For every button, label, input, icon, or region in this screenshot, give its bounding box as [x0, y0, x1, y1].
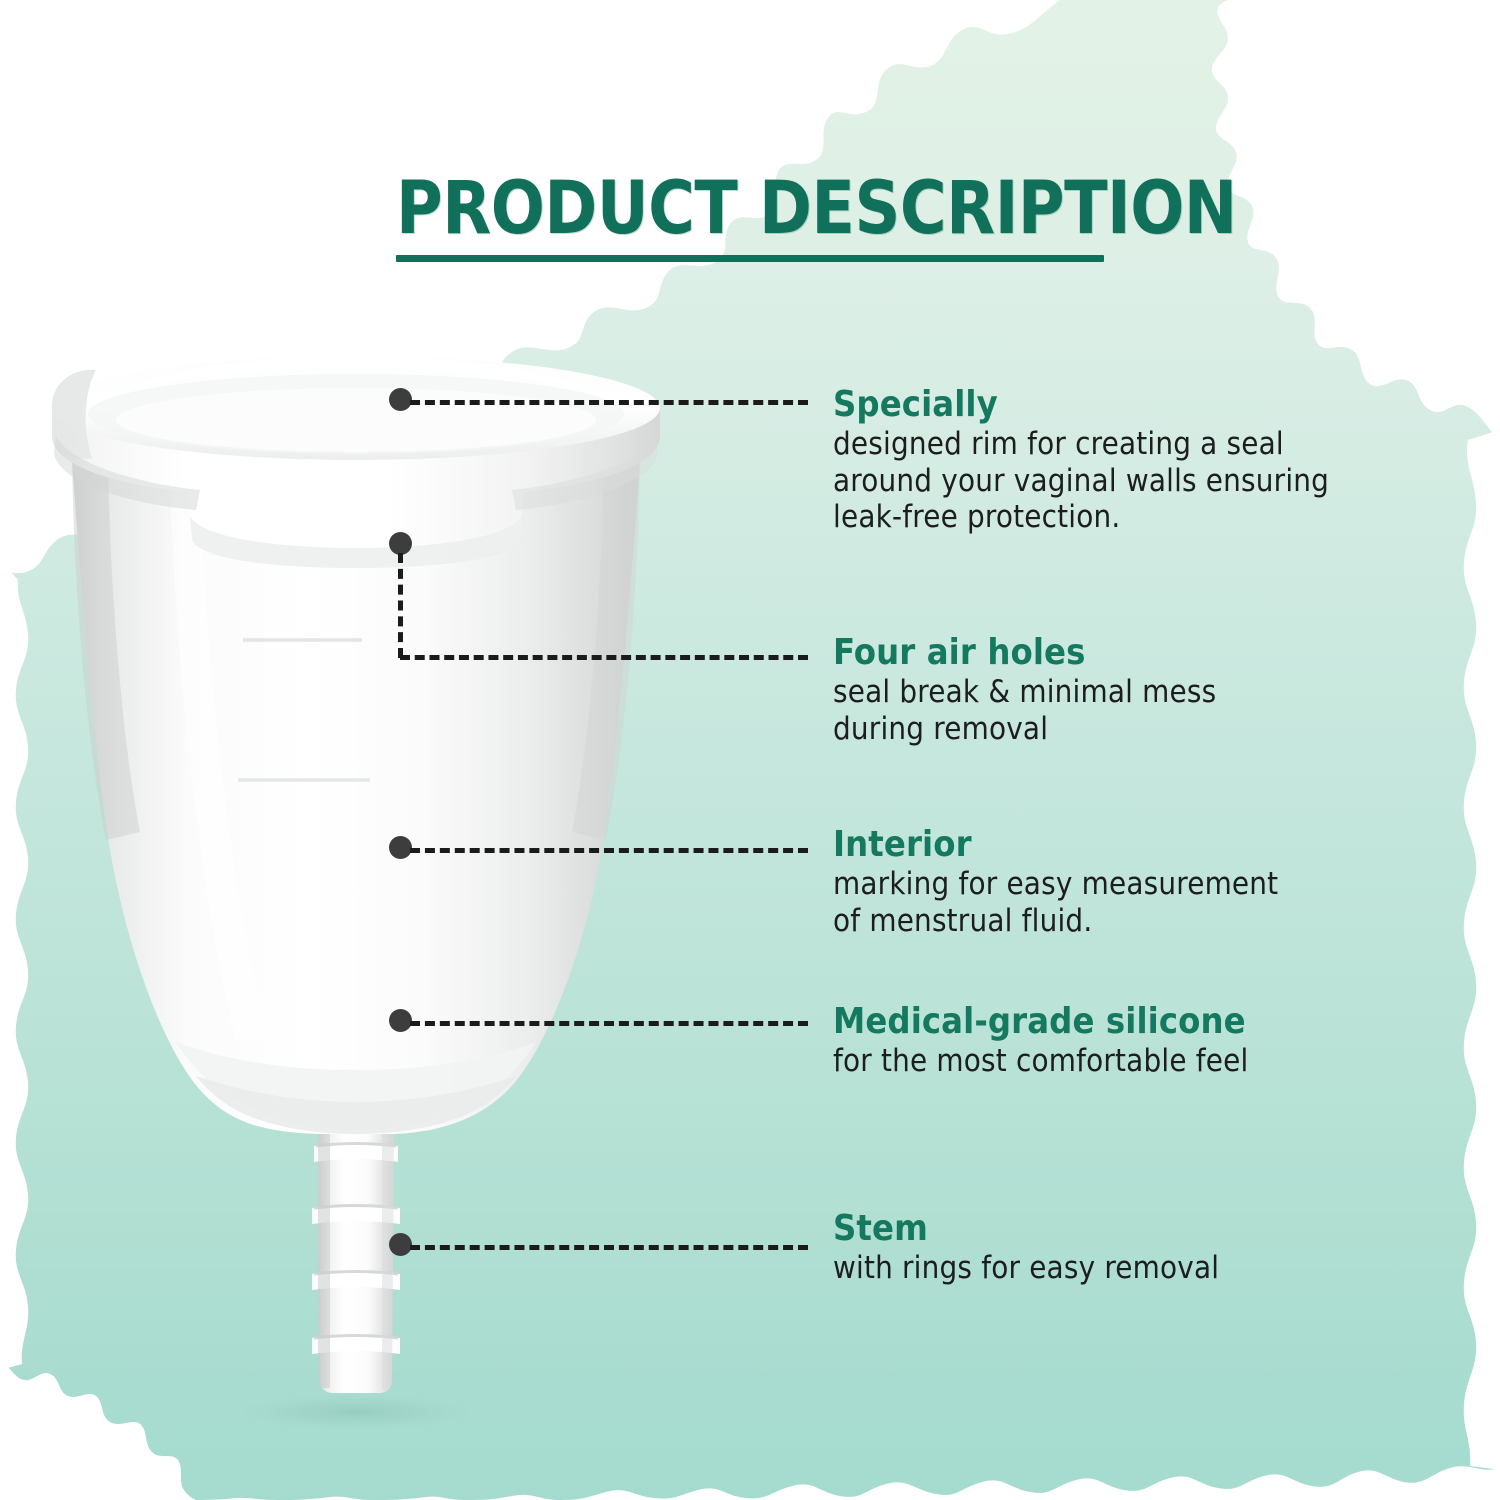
callout-body-line: with rings for easy removal: [833, 1250, 1473, 1287]
callout-heading-rim: Specially: [833, 386, 1473, 424]
leader-dot-rim: [389, 388, 412, 411]
callout-heading-silicone: Medical-grade silicone: [833, 1003, 1473, 1041]
page-title: PRODUCT DESCRIPTION: [396, 172, 1133, 245]
callout-body-line: for the most comfortable feel: [833, 1043, 1473, 1080]
leader-dash-stem: [410, 1245, 808, 1250]
cup-drop-shadow: [238, 1394, 474, 1430]
leader-dot-interior: [389, 836, 412, 859]
callout-interior: Interior marking for easy measurement of…: [833, 826, 1473, 939]
callout-body-silicone: for the most comfortable feel: [833, 1043, 1473, 1080]
callout-body-line: leak-free protection.: [833, 499, 1473, 536]
callout-body-line: marking for easy measurement: [833, 866, 1473, 903]
callout-body-interior: marking for easy measurement of menstrua…: [833, 866, 1473, 939]
leader-dash-interior: [410, 848, 808, 853]
leader-dot-air-holes: [389, 532, 412, 555]
callout-body-line: seal break & minimal mess: [833, 674, 1473, 711]
leader-dash-rim: [410, 400, 808, 405]
callout-body-line: during removal: [833, 711, 1473, 748]
callout-heading-interior: Interior: [833, 826, 1473, 864]
callout-body-line: of menstrual fluid.: [833, 903, 1473, 940]
leader-dash-air-holes: [400, 655, 808, 660]
callout-body-line: designed rim for creating a seal: [833, 426, 1473, 463]
leader-dot-silicone: [389, 1009, 412, 1032]
callout-silicone: Medical-grade silicone for the most comf…: [833, 1003, 1473, 1080]
callout-stem: Stem with rings for easy removal: [833, 1210, 1473, 1287]
callout-body-stem: with rings for easy removal: [833, 1250, 1473, 1287]
page-title-block: PRODUCT DESCRIPTION: [396, 172, 1156, 262]
callout-heading-stem: Stem: [833, 1210, 1473, 1248]
title-underline: [396, 255, 1104, 262]
callout-heading-air-holes: Four air holes: [833, 634, 1473, 672]
cup-stem: [312, 1128, 400, 1393]
menstrual-cup-illustration: [0, 340, 720, 1460]
callout-air-holes: Four air holes seal break & minimal mess…: [833, 634, 1473, 747]
callout-rim: Specially designed rim for creating a se…: [833, 386, 1473, 536]
leader-dash-vertical-air-holes: [398, 553, 403, 658]
callout-body-line: around your vaginal walls ensuring: [833, 463, 1473, 500]
callout-body-rim: designed rim for creating a seal around …: [833, 426, 1473, 536]
infographic-canvas: PRODUCT DESCRIPTION: [0, 0, 1500, 1500]
callout-body-air-holes: seal break & minimal mess during removal: [833, 674, 1473, 747]
leader-dash-silicone: [410, 1021, 808, 1026]
leader-dot-stem: [389, 1233, 412, 1256]
